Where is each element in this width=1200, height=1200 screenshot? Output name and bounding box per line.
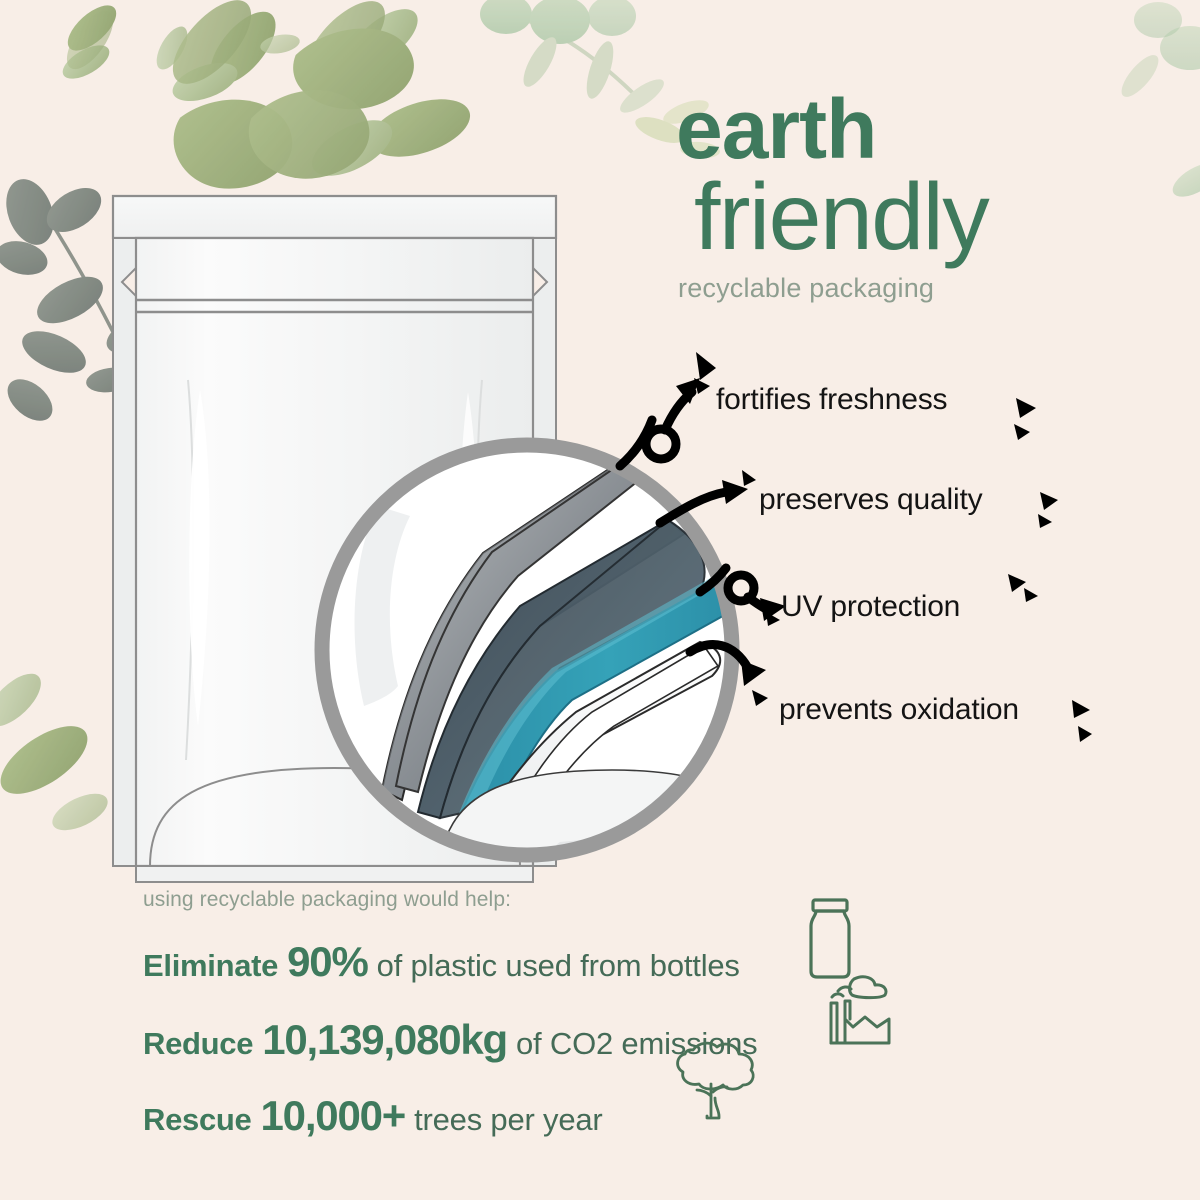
stat-row: Rescue 10,000+ trees per year [143, 1092, 903, 1140]
stat-verb: Rescue [143, 1102, 252, 1138]
stats-intro: using recyclable packaging would help: [143, 888, 903, 912]
stat-row: Reduce 10,139,080kg of CO2 emissions [143, 1016, 903, 1064]
stat-verb: Reduce [143, 1026, 253, 1062]
tree-icon [663, 1038, 759, 1122]
curly-arrow-icon [690, 645, 748, 668]
curly-arrow-icon [660, 492, 726, 523]
bottle-icon [798, 896, 862, 982]
stats-block: using recyclable packaging would help: E… [143, 888, 903, 1140]
curly-arrow-icon [700, 568, 726, 592]
feature-label-preserves-quality: preserves quality [759, 483, 982, 517]
stat-tail: trees per year [414, 1102, 602, 1138]
infographic-canvas: earth friendly recyclable packaging fort… [0, 0, 1200, 1200]
heading-block: earth friendly recyclable packaging [676, 88, 1106, 304]
feature-label-uv-protection: UV protection [781, 590, 960, 624]
factory-icon [828, 975, 892, 1047]
stat-value: 90% [287, 938, 367, 986]
stat-verb: Eliminate [143, 948, 278, 984]
stat-value: 10,000+ [261, 1092, 406, 1140]
heading-earth: earth [676, 88, 1106, 170]
feature-label-fortifies-freshness: fortifies freshness [716, 383, 947, 417]
stat-tail: of plastic used from bottles [377, 948, 740, 984]
heading-friendly: friendly [676, 170, 1106, 265]
feature-label-prevents-oxidation: prevents oxidation [779, 693, 1019, 727]
stat-row: Eliminate 90% of plastic used from bottl… [143, 938, 903, 986]
heading-subtitle: recyclable packaging [678, 273, 1106, 304]
stat-value: 10,139,080kg [262, 1016, 507, 1064]
